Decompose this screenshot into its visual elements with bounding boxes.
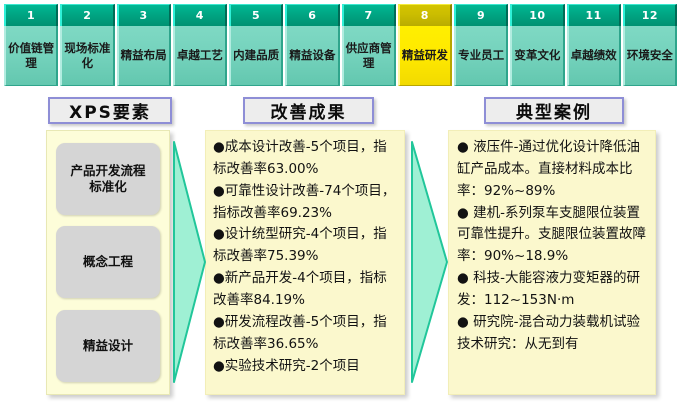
- element-cell-3[interactable]: 3精益布局: [117, 4, 171, 86]
- xps-element-strip: 1价值链管理2现场标准化3精益布局4卓越工艺5内建品质6精益设备7供应商管理8精…: [4, 4, 677, 86]
- element-cell-8[interactable]: 8精益研发: [398, 4, 452, 86]
- element-cell-number: 1: [4, 4, 58, 26]
- element-cell-label: 现场标准化: [60, 26, 114, 86]
- element-cell-number: 9: [454, 4, 508, 26]
- element-cell-label: 环境安全: [623, 26, 677, 86]
- element-cell-number: 5: [229, 4, 283, 26]
- element-cell-11[interactable]: 11卓越绩效: [567, 4, 621, 86]
- element-cell-label: 价值链管理: [4, 26, 58, 86]
- improvement-results-text: ●成本设计改善-5个项目，指标改善率63.00% ●可靠性设计改善-74个项目，…: [213, 137, 397, 377]
- typical-cases-panel: ● 液压件-通过优化设计降低油缸产品成本。直接材料成本比率：92%~89% ● …: [448, 130, 656, 395]
- element-cell-number: 11: [567, 4, 621, 26]
- xps-elements-panel: 产品开发流程 标准化概念工程精益设计: [46, 130, 170, 395]
- element-cell-number: 6: [285, 4, 339, 26]
- element-cell-label: 供应商管理: [342, 26, 396, 86]
- element-cell-number: 2: [60, 4, 114, 26]
- element-cell-label: 卓越绩效: [567, 26, 621, 86]
- xps-element-box[interactable]: 精益设计: [56, 310, 160, 382]
- element-cell-10[interactable]: 10变革文化: [510, 4, 564, 86]
- element-cell-number: 7: [342, 4, 396, 26]
- element-cell-label: 精益设备: [285, 26, 339, 86]
- element-cell-number: 8: [398, 4, 452, 26]
- right-arrow-icon: [410, 138, 448, 386]
- xps-element-box[interactable]: 概念工程: [56, 226, 160, 298]
- element-cell-9[interactable]: 9专业员工: [454, 4, 508, 86]
- section-header-typical-cases: 典型案例: [484, 97, 624, 124]
- element-cell-number: 10: [510, 4, 564, 26]
- element-cell-7[interactable]: 7供应商管理: [342, 4, 396, 86]
- element-cell-label: 专业员工: [454, 26, 508, 86]
- element-cell-4[interactable]: 4卓越工艺: [173, 4, 227, 86]
- element-cell-1[interactable]: 1价值链管理: [4, 4, 58, 86]
- section-header-improvement-results: 改善成果: [243, 97, 374, 124]
- improvement-results-panel: ●成本设计改善-5个项目，指标改善率63.00% ●可靠性设计改善-74个项目，…: [205, 130, 405, 395]
- element-cell-5[interactable]: 5内建品质: [229, 4, 283, 86]
- element-cell-2[interactable]: 2现场标准化: [60, 4, 114, 86]
- element-cell-number: 12: [623, 4, 677, 26]
- element-cell-label: 变革文化: [510, 26, 564, 86]
- element-cell-number: 3: [117, 4, 171, 26]
- element-cell-12[interactable]: 12环境安全: [623, 4, 677, 86]
- element-cell-label: 卓越工艺: [173, 26, 227, 86]
- element-cell-6[interactable]: 6精益设备: [285, 4, 339, 86]
- typical-cases-text: ● 液压件-通过优化设计降低油缸产品成本。直接材料成本比率：92%~89% ● …: [457, 137, 647, 356]
- element-cell-label: 内建品质: [229, 26, 283, 86]
- right-arrow-icon: [172, 138, 206, 386]
- section-header-xps-elements: XPS要素: [48, 97, 172, 124]
- xps-element-box[interactable]: 产品开发流程 标准化: [56, 143, 160, 215]
- element-cell-label: 精益研发: [398, 26, 452, 86]
- element-cell-label: 精益布局: [117, 26, 171, 86]
- element-cell-number: 4: [173, 4, 227, 26]
